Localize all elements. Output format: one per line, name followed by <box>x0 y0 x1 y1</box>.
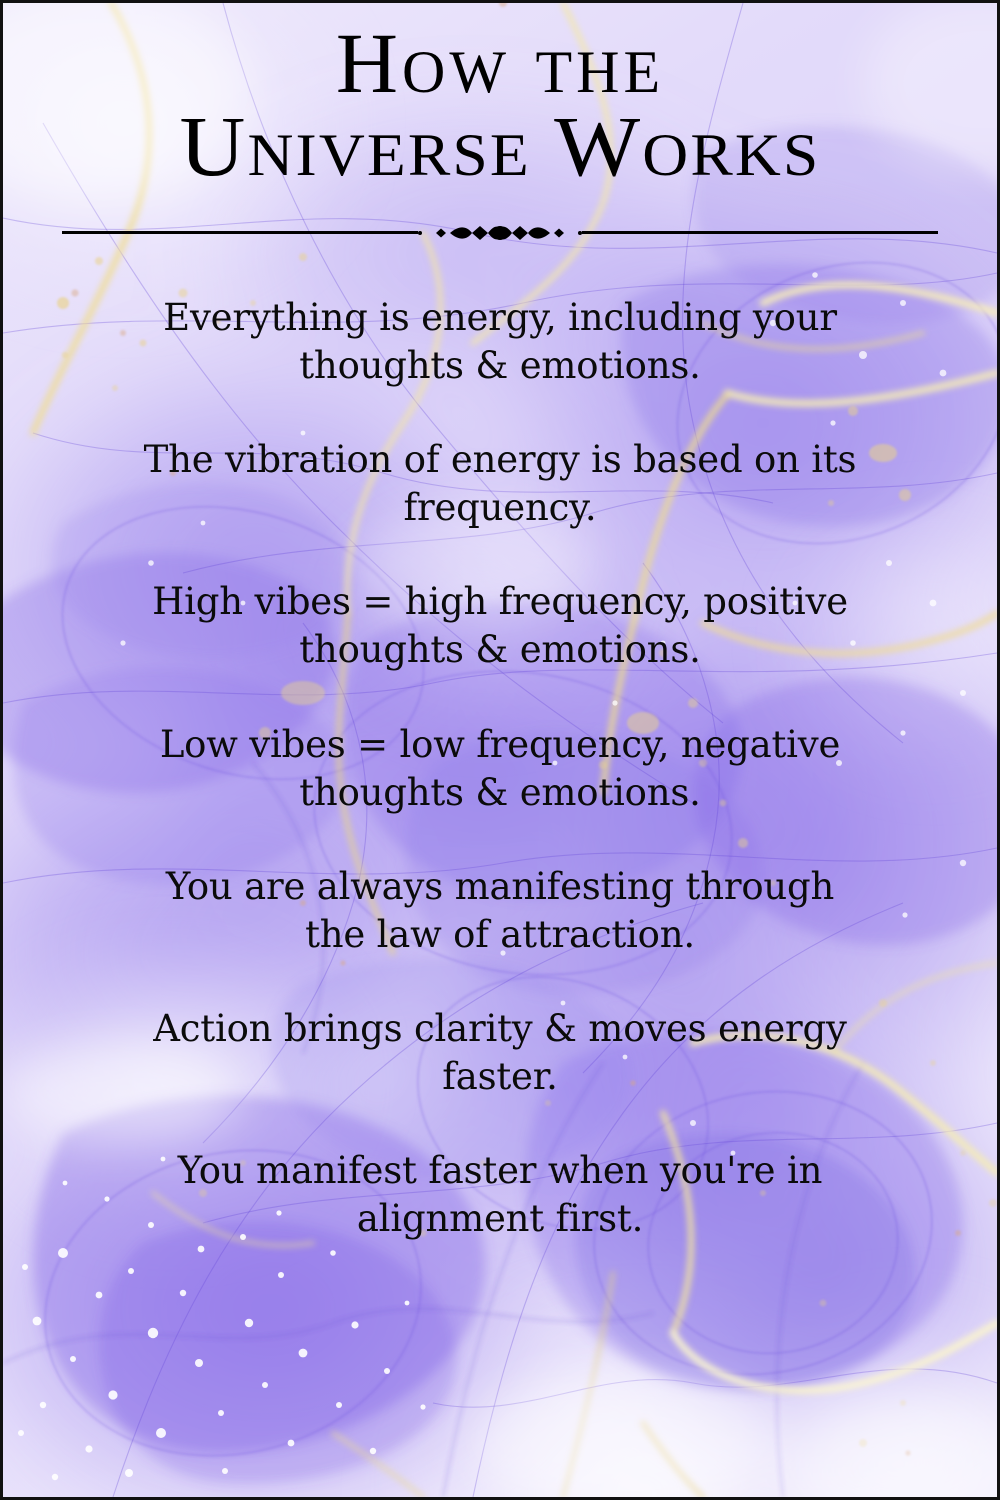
statement-energy: Everything is energy, including your tho… <box>60 294 940 390</box>
statement-line: frequency. <box>60 484 940 532</box>
statement-line: High vibes = high frequency, positive <box>60 578 940 626</box>
statement-low-vibes: Low vibes = low frequency, negative thou… <box>60 721 940 817</box>
statement-line: The vibration of energy is based on its <box>60 436 940 484</box>
statement-vibration: The vibration of energy is based on its … <box>60 436 940 532</box>
poster-content: How the Universe Works <box>0 0 1000 1500</box>
statement-alignment: You manifest faster when you're in align… <box>60 1147 940 1243</box>
divider-rule-left <box>62 231 418 234</box>
statement-line: You manifest faster when you're in <box>60 1147 940 1195</box>
statement-line: faster. <box>60 1053 940 1101</box>
statement-high-vibes: High vibes = high frequency, positive th… <box>60 578 940 674</box>
title-line-1: How the <box>0 22 1000 105</box>
statement-line: thoughts & emotions. <box>60 342 940 390</box>
divider-rule-right <box>582 231 938 234</box>
divider-ornament-icon <box>410 222 590 244</box>
statement-line: Action brings clarity & moves energy <box>60 1005 940 1053</box>
diamond-flourish-divider-icon <box>62 222 938 244</box>
statement-line: thoughts & emotions. <box>60 626 940 674</box>
statement-line: You are always manifesting through <box>60 863 940 911</box>
title-line-2: Universe Works <box>0 105 1000 188</box>
page-title: How the Universe Works <box>0 22 1000 187</box>
poster-canvas: How the Universe Works <box>0 0 1000 1500</box>
statements-list: Everything is energy, including your tho… <box>60 294 940 1243</box>
statement-action: Action brings clarity & moves energy fas… <box>60 1005 940 1101</box>
statement-line: alignment first. <box>60 1195 940 1243</box>
statement-line: the law of attraction. <box>60 911 940 959</box>
statement-line: Everything is energy, including your <box>60 294 940 342</box>
statement-line: Low vibes = low frequency, negative <box>60 721 940 769</box>
statement-manifesting: You are always manifesting through the l… <box>60 863 940 959</box>
statement-line: thoughts & emotions. <box>60 769 940 817</box>
